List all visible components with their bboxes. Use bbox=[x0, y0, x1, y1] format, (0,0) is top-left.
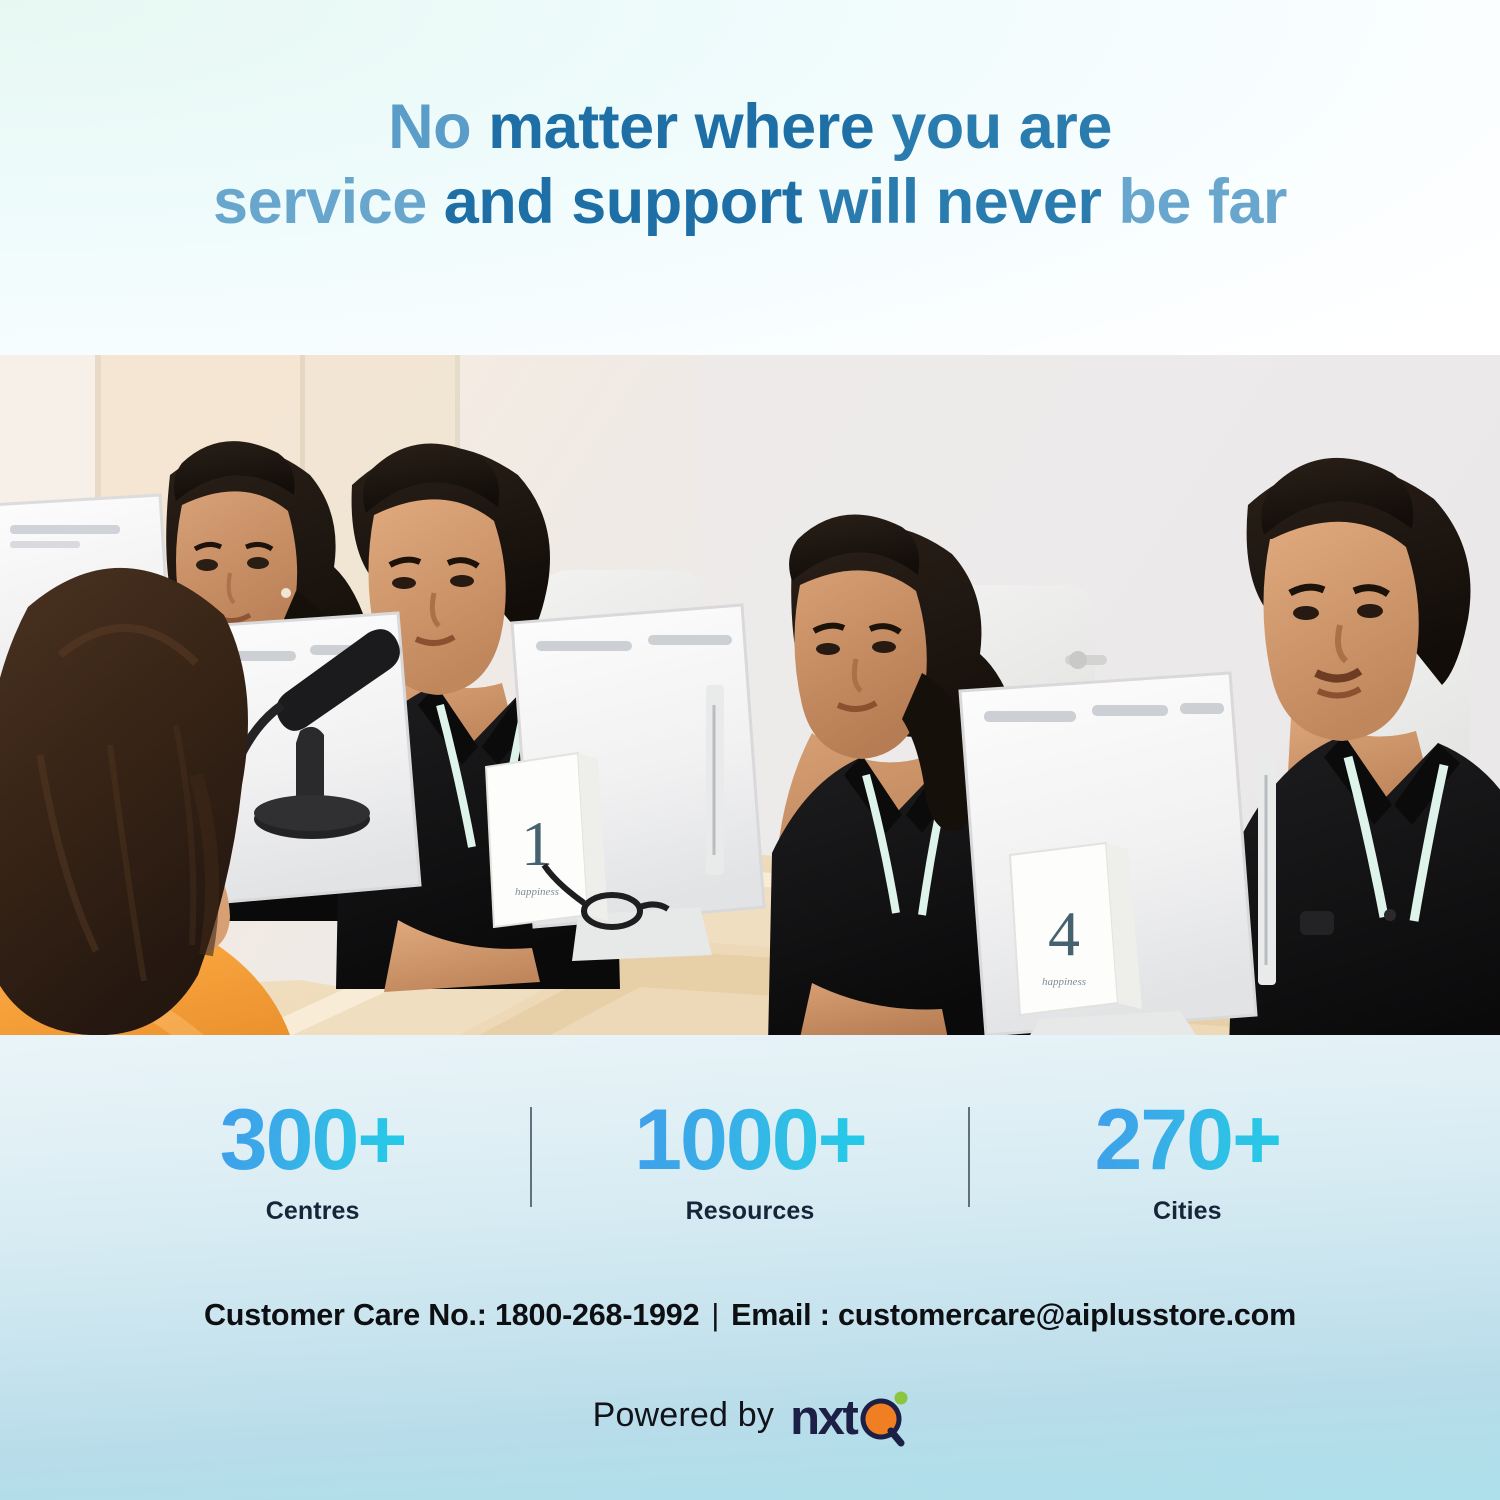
service-desk-photo: 1 happiness 4 happiness bbox=[0, 355, 1500, 1035]
headline-line-1: No matter where you are bbox=[213, 90, 1287, 164]
headline-seg-no: No bbox=[388, 92, 488, 162]
stat-number: 300+ bbox=[220, 1097, 406, 1183]
headline-seg-matter-where: matter where bbox=[488, 92, 891, 162]
headline-seg-will-never: will never bbox=[819, 167, 1118, 237]
stat-label: Cities bbox=[970, 1197, 1405, 1226]
contact-separator: | bbox=[699, 1298, 731, 1332]
q-green-dot bbox=[895, 1392, 908, 1405]
promo-poster: No matter where you are service and supp… bbox=[0, 0, 1500, 1500]
stat-number: 1000+ bbox=[634, 1097, 866, 1183]
customer-care-phone[interactable]: Customer Care No.: 1800-268-1992 bbox=[204, 1298, 699, 1332]
stat-cities: 270+ Cities bbox=[970, 1097, 1405, 1226]
contact-line: Customer Care No.: 1800-268-1992|Email :… bbox=[0, 1298, 1500, 1333]
stat-centres: 300+ Centres bbox=[95, 1097, 530, 1226]
headline-band: No matter where you are service and supp… bbox=[0, 0, 1500, 355]
nxtq-logo[interactable]: nxt bbox=[790, 1387, 907, 1443]
stats-row: 300+ Centres 1000+ Resources 270+ Cities bbox=[0, 1097, 1500, 1226]
customer-care-email[interactable]: Email : customercare@aiplusstore.com bbox=[731, 1298, 1296, 1332]
info-panel: 300+ Centres 1000+ Resources 270+ Cities… bbox=[0, 1035, 1500, 1500]
stat-resources: 1000+ Resources bbox=[532, 1097, 967, 1226]
page-title: No matter where you are service and supp… bbox=[213, 90, 1287, 265]
stat-label: Resources bbox=[532, 1197, 967, 1226]
stat-label: Centres bbox=[95, 1197, 530, 1226]
svg-text:happiness: happiness bbox=[1042, 976, 1086, 988]
headline-seg-and-support: and support bbox=[444, 167, 819, 237]
headline-line-2: service and support will never be far bbox=[213, 165, 1287, 239]
powered-by-block: Powered by nxt bbox=[0, 1387, 1500, 1443]
headline-seg-be-far: be far bbox=[1118, 167, 1287, 237]
headline-seg-you-are: you are bbox=[891, 92, 1112, 162]
nxtq-wordmark: nxt bbox=[790, 1394, 856, 1443]
svg-text:4: 4 bbox=[1048, 898, 1080, 969]
powered-by-label: Powered by bbox=[593, 1396, 775, 1435]
q-navy-tail bbox=[891, 1431, 901, 1443]
svg-text:happiness: happiness bbox=[515, 886, 559, 898]
stat-number: 270+ bbox=[1094, 1097, 1280, 1183]
headline-seg-service: service bbox=[213, 167, 444, 237]
nxtq-q-mark bbox=[857, 1393, 907, 1443]
